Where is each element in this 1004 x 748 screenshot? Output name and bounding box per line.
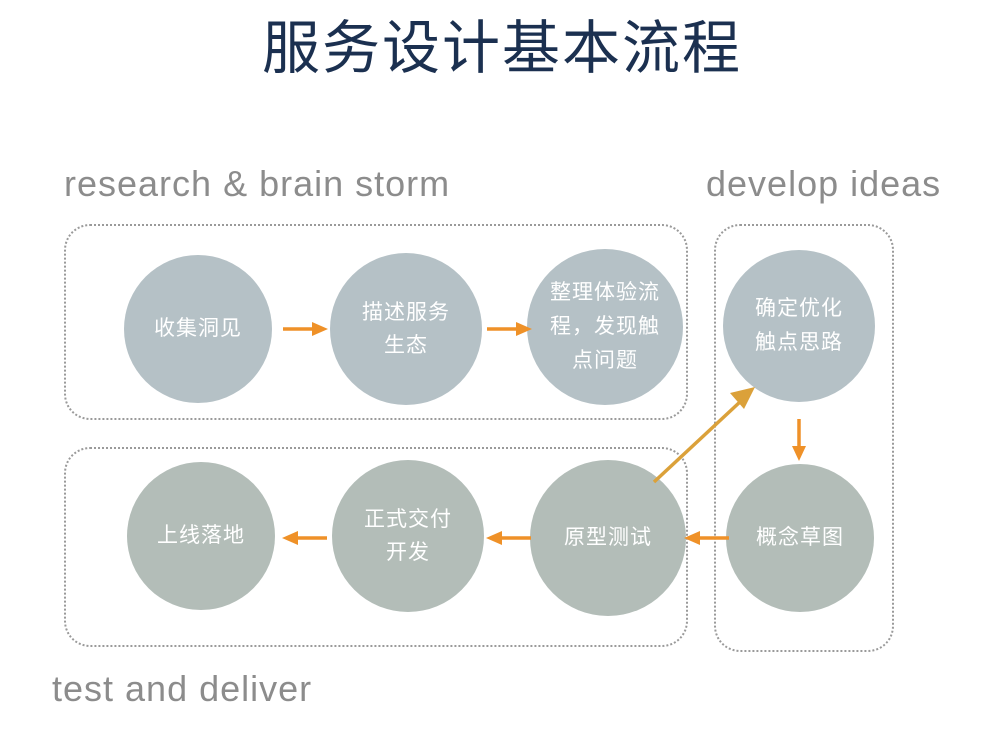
node-label: 描述服务生态: [330, 296, 482, 362]
group-caption-test: test and deliver: [52, 668, 312, 710]
node-formal-delivery-development[interactable]: 正式交付开发: [332, 460, 484, 612]
node-launch-landing[interactable]: 上线落地: [127, 462, 275, 610]
arrow-down-icon-ideas-to-sketch: [790, 418, 808, 462]
arrow-right-icon-ecology-to-journey: [486, 320, 534, 338]
arrow-diagonal-up-right-icon-proto-to-ideas: [648, 382, 762, 488]
arrow-right-icon-insight-to-ecology: [282, 320, 330, 338]
page-title: 服务设计基本流程: [0, 14, 1004, 84]
node-label: 上线落地: [135, 521, 267, 551]
node-collect-insight[interactable]: 收集洞见: [124, 255, 272, 403]
arrow-left-icon-deliver-to-launch: [280, 529, 328, 547]
diagram-canvas: 服务设计基本流程 research & brain storm develop …: [0, 0, 1004, 748]
node-define-touchpoint-ideas[interactable]: 确定优化触点思路: [723, 250, 875, 402]
node-label: 概念草图: [734, 523, 866, 553]
node-label: 确定优化触点思路: [723, 292, 875, 360]
node-label: 整理体验流程，发现触点问题: [527, 276, 683, 378]
group-caption-research: research & brain storm: [64, 163, 450, 205]
group-caption-develop: develop ideas: [706, 163, 941, 205]
node-label: 收集洞见: [132, 314, 264, 344]
arrow-left-icon-sketch-to-proto: [682, 529, 730, 547]
arrow-left-icon-proto-to-deliver: [484, 529, 532, 547]
node-label: 正式交付开发: [332, 503, 484, 569]
node-describe-service-ecology[interactable]: 描述服务生态: [330, 253, 482, 405]
node-label: 原型测试: [542, 523, 674, 553]
